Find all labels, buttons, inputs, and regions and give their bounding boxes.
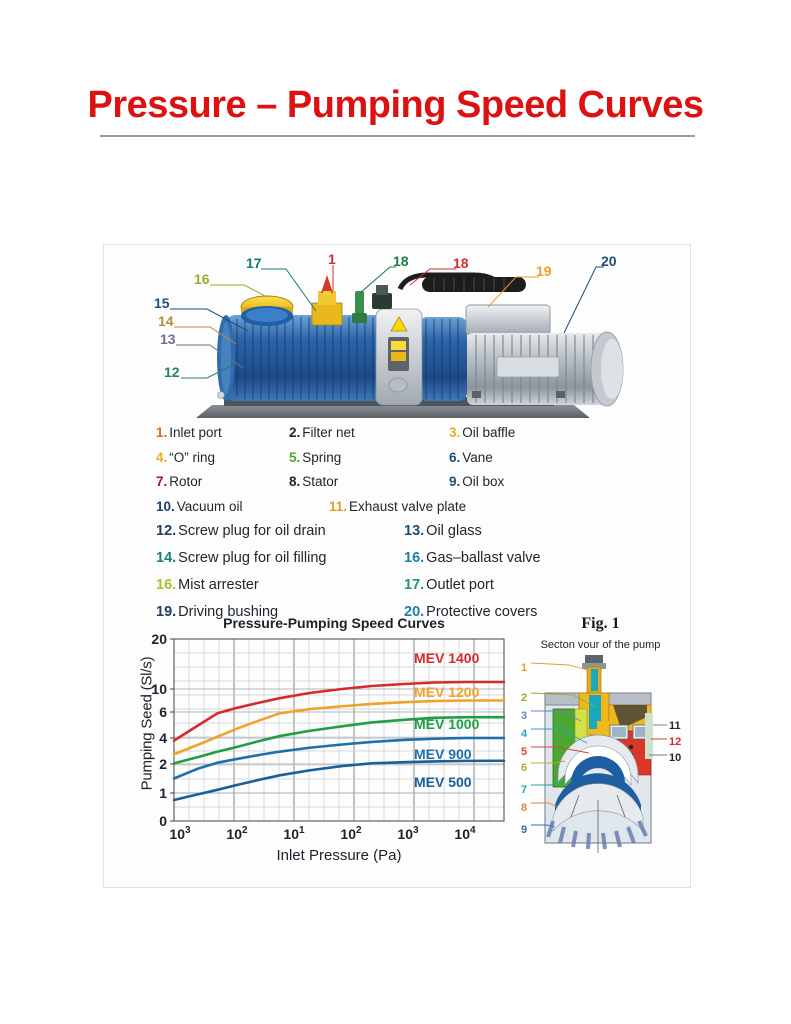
chart-label-mev-1400: MEV 1400 — [414, 650, 480, 666]
callout-20: 20 — [601, 253, 617, 269]
parts-row: 1.Inlet port 2.Filter net 3.Oil baffle — [104, 425, 692, 450]
chart-title: Pressure-Pumping Speed Curves — [174, 615, 494, 631]
chart-x-ticks: 103102101102103104 — [169, 825, 476, 842]
chart-x-axis-label: Inlet Pressure (Pa) — [174, 847, 504, 864]
part-item-13: 13.Oil glass — [404, 523, 482, 539]
figure-label-6: 6 — [521, 762, 527, 774]
callout-16: 16 — [194, 271, 210, 287]
part-item-1: 1.Inlet port — [156, 425, 222, 440]
title-underline — [100, 135, 695, 137]
page-title-wrap: Pressure – Pumping Speed Curves — [0, 84, 791, 131]
pump-section-drawing: 123456789 111210 — [509, 655, 692, 855]
figure-label-3: 3 — [521, 710, 527, 722]
figure-left-labels: 123456789 — [521, 662, 528, 836]
figure-label-5: 5 — [521, 746, 527, 758]
chart-label-mev-1000: MEV 1000 — [414, 716, 480, 732]
parts-row: 16.Mist arrester 17.Outlet port — [104, 577, 692, 604]
chart-ytick-4: 4 — [159, 730, 167, 746]
parts-legend: 1.Inlet port 2.Filter net 3.Oil baffle 4… — [104, 425, 692, 631]
chart-xtick-5: 104 — [454, 825, 476, 842]
part-item-12: 12.Screw plug for oil drain — [156, 523, 326, 539]
content-card: 12 13 14 15 16 17 1 18 18 19 20 1.Inlet … — [103, 244, 691, 888]
callout-19: 19 — [536, 263, 552, 279]
callout-12: 12 — [164, 364, 180, 380]
callout-18-right: 18 — [453, 255, 469, 271]
chart-xtick-1: 102 — [226, 825, 248, 842]
part-item-9: 9.Oil box — [449, 474, 504, 489]
chart-y-ticks: 012461020 — [151, 633, 174, 829]
parts-row: 10.Vacuum oil 11.Exhaust valve plate — [104, 499, 692, 524]
callout-14: 14 — [158, 313, 174, 329]
chart-ytick-20: 20 — [151, 633, 167, 647]
chart-xtick-4: 103 — [397, 825, 419, 842]
part-item-5: 5.Spring — [289, 450, 341, 465]
part-item-14: 14.Screw plug for oil filling — [156, 550, 326, 566]
figure-1-block: Fig. 1 Secton vour of the pump — [509, 615, 692, 875]
part-item-4: 4.“O” ring — [156, 450, 215, 465]
part-item-6: 6.Vane — [449, 450, 493, 465]
chart-ytick-0: 0 — [159, 813, 167, 829]
parts-row: 14.Screw plug for oil filling 16.Gas–bal… — [104, 550, 692, 577]
part-item-10: 10.Vacuum oil — [156, 499, 243, 514]
chart-xtick-0: 103 — [169, 825, 191, 842]
chart-label-mev-900: MEV 900 — [414, 746, 472, 762]
chart-label-mev-1200: MEV 1200 — [414, 684, 480, 700]
figure-subtitle: Secton vour of the pump — [509, 639, 692, 651]
chart-canvas: 012461020 103102101102103104 MEV 1400MEV… — [114, 633, 514, 845]
figure-label-7: 7 — [521, 784, 527, 796]
part-item-2: 2.Filter net — [289, 425, 355, 440]
chart-xtick-2: 101 — [283, 825, 305, 842]
callout-18-left: 18 — [393, 253, 409, 269]
part-item-16-gas-ballast: 16.Gas–ballast valve — [404, 550, 541, 566]
parts-row: 7.Rotor 8.Stator 9.Oil box — [104, 474, 692, 499]
part-item-17: 17.Outlet port — [404, 577, 494, 593]
figure-right-labels: 111210 — [669, 720, 681, 764]
part-item-16-mist-arrester: 16.Mist arrester — [156, 577, 259, 593]
figure-label-12: 12 — [669, 736, 681, 748]
callout-15: 15 — [154, 295, 170, 311]
callout-13: 13 — [160, 331, 176, 347]
figure-label-9: 9 — [521, 824, 527, 836]
callout-1: 1 — [328, 251, 336, 267]
pressure-speed-chart: Pressure-Pumping Speed Curves Pumping Se… — [114, 615, 514, 875]
figure-label-4: 4 — [521, 728, 528, 740]
chart-label-mev-500: MEV 500 — [414, 774, 472, 790]
chart-series-labels: MEV 1400MEV 1200MEV 1000MEV 900MEV 500 — [414, 650, 480, 790]
pump-illustration: 12 13 14 15 16 17 1 18 18 19 20 — [104, 245, 692, 423]
part-item-7: 7.Rotor — [156, 474, 202, 489]
chart-ytick-1: 1 — [159, 785, 167, 801]
part-item-3: 3.Oil baffle — [449, 425, 515, 440]
figure-label-8: 8 — [521, 802, 527, 814]
figure-label-2: 2 — [521, 692, 527, 704]
callout-17: 17 — [246, 255, 262, 271]
part-item-11: 11.Exhaust valve plate — [329, 499, 466, 514]
chart-xtick-3: 102 — [340, 825, 362, 842]
figure-label-11: 11 — [669, 720, 681, 732]
parts-row: 12.Screw plug for oil drain 13.Oil glass — [104, 523, 692, 550]
chart-ytick-6: 6 — [159, 704, 167, 720]
parts-row: 4.“O” ring 5.Spring 6.Vane — [104, 450, 692, 475]
part-item-8: 8.Stator — [289, 474, 338, 489]
figure-label-1: 1 — [521, 662, 527, 674]
figure-caption: Fig. 1 — [509, 615, 692, 633]
page-title: Pressure – Pumping Speed Curves — [82, 84, 710, 131]
figure-label-10: 10 — [669, 752, 681, 764]
chart-ytick-10: 10 — [151, 681, 167, 697]
pump-drawing — [104, 245, 692, 423]
chart-ytick-2: 2 — [159, 756, 167, 772]
